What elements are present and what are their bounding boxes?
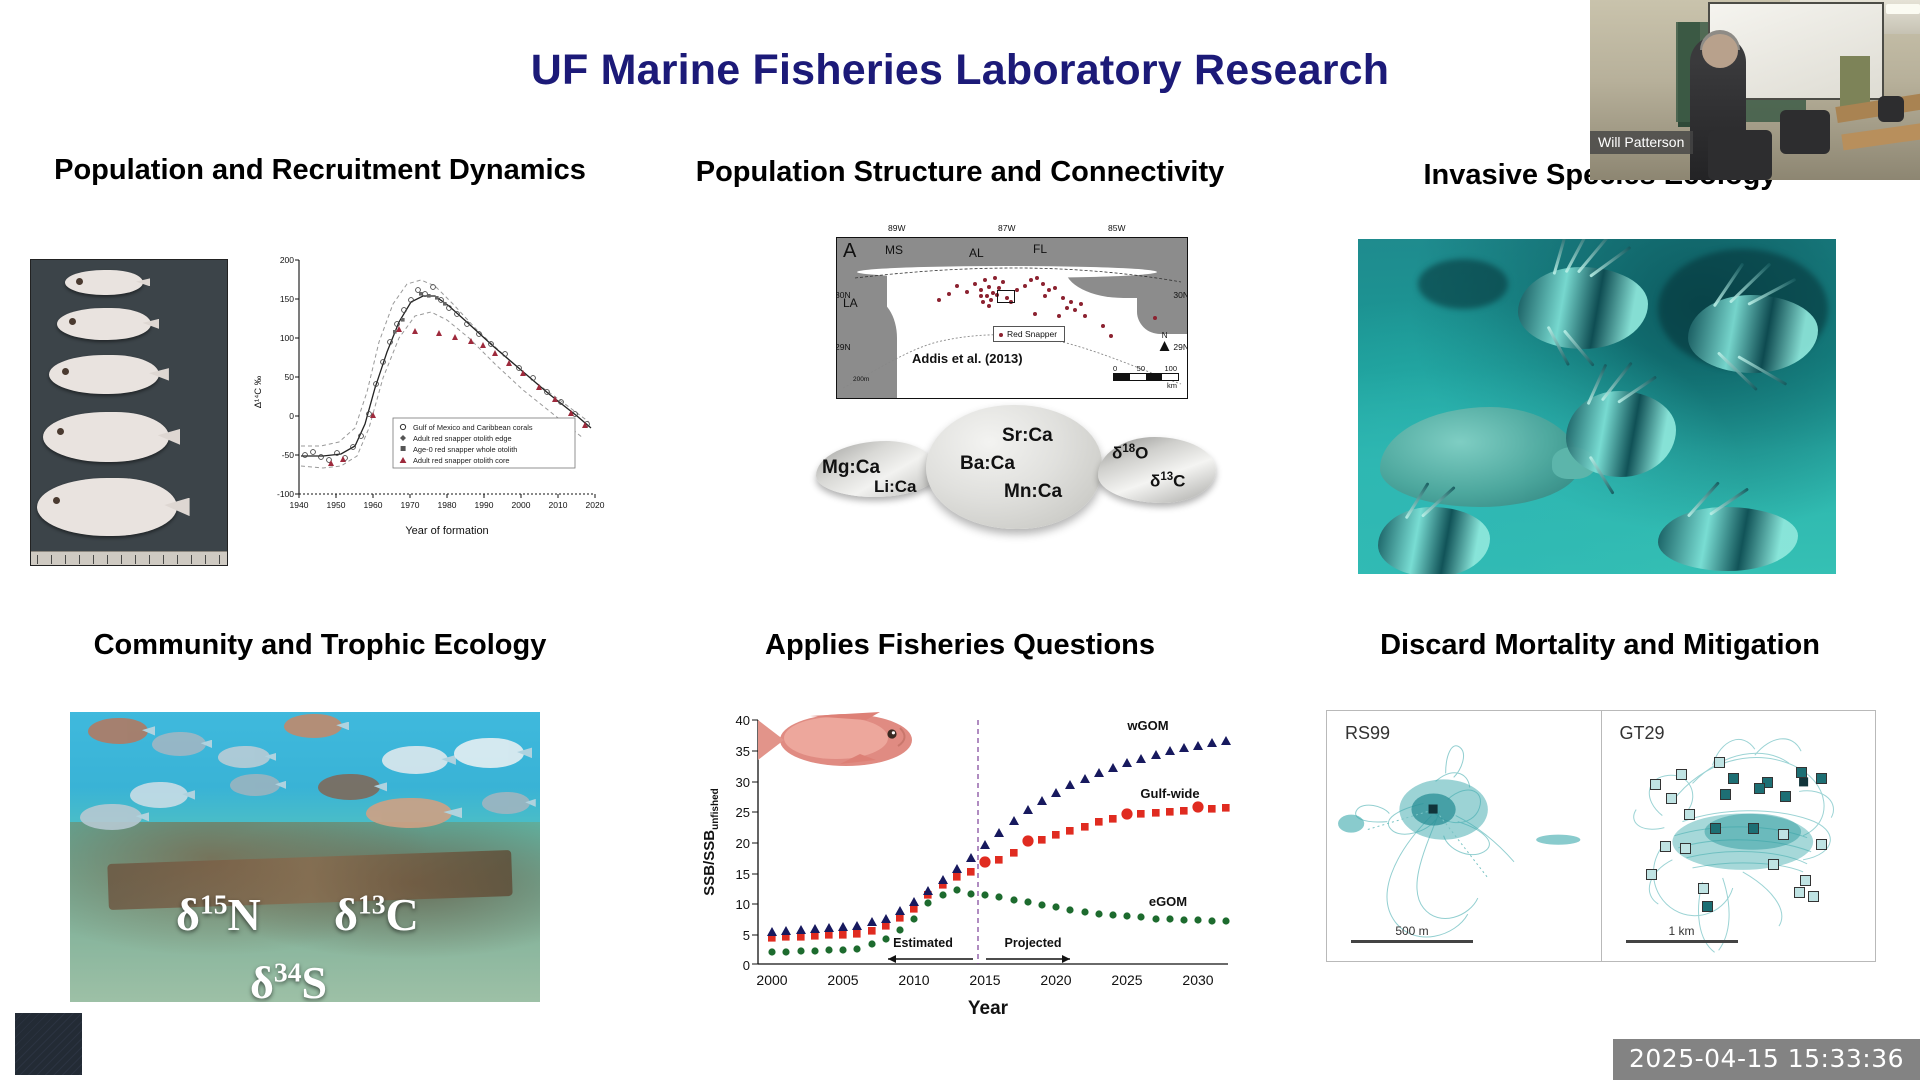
lionfish: [1518, 267, 1648, 349]
radiocarbon-y-axis-label: Δ¹⁴C ‰: [253, 375, 264, 408]
svg-text:5: 5: [743, 928, 750, 943]
svg-text:35: 35: [736, 744, 750, 759]
svg-text:0: 0: [289, 411, 294, 421]
svg-text:25: 25: [736, 805, 750, 820]
isotope-label-n15: δ15N: [176, 888, 261, 941]
map-scale-bar: 0 50 100 km: [1113, 364, 1179, 390]
red-snapper-illustration: [758, 712, 912, 766]
map-state-fl: FL: [1033, 242, 1047, 256]
svg-text:10: 10: [736, 897, 750, 912]
otolith-label-mgca: Mg:Ca: [822, 457, 880, 479]
map-state-al: AL: [969, 246, 984, 260]
lionfish: [1566, 391, 1676, 477]
svg-text:2020: 2020: [586, 500, 605, 510]
telemetry-scale-rs99: 500 m: [1351, 924, 1473, 943]
svg-text:-50: -50: [282, 450, 295, 460]
map-legend: Red Snapper: [993, 326, 1065, 342]
corner-placeholder-block: [15, 1013, 82, 1075]
svg-text:15: 15: [736, 867, 750, 882]
svg-text:-100: -100: [277, 489, 294, 499]
lionfish: [1378, 507, 1490, 574]
lionfish: [1688, 295, 1818, 373]
rs99-tracks: [1327, 711, 1600, 960]
otolith-label-lica: Li:Ca: [874, 477, 917, 497]
acoustic-telemetry-figure: RS99: [1326, 710, 1876, 962]
sea-turtle: [1380, 407, 1580, 507]
svg-text:1990: 1990: [475, 500, 494, 510]
svg-text:2000: 2000: [512, 500, 531, 510]
svg-text:2015: 2015: [969, 972, 1000, 988]
chart-ssb-projection: 40 35 30 25 20 15 10 5 0 2000 2005 2010 …: [688, 702, 1248, 1022]
telemetry-scale-gt29: 1 km: [1626, 924, 1738, 943]
panel-population-recruitment: Population and Recruitment Dynamics: [0, 155, 640, 587]
svg-text:30: 30: [736, 775, 750, 790]
otolith-label-d13c: δ13C: [1150, 471, 1185, 492]
red-snapper-size-series-photo: [30, 259, 228, 566]
legend-label-otolith-edge: Adult red snapper otolith edge: [413, 434, 512, 443]
legend-label-otolith-core: Adult red snapper otolith core: [413, 456, 510, 465]
svg-text:1960: 1960: [364, 500, 383, 510]
recording-timestamp: 2025-04-15 15:33:36: [1613, 1039, 1920, 1080]
map-legend-label: Red Snapper: [1007, 329, 1057, 339]
gulf-of-mexico-sample-map: A MS AL FL LA 200m: [836, 237, 1188, 399]
gt29-tracks: [1602, 711, 1875, 960]
reef-assemblage-video-still: δ15N δ13C δ34S: [70, 712, 540, 1002]
otolith-label-mnca: Mn:Ca: [1004, 481, 1062, 503]
svg-text:2010: 2010: [898, 972, 929, 988]
svg-text:1940: 1940: [290, 500, 309, 510]
map-longitude-axis: 89W 87W 85W: [836, 223, 1186, 237]
map-north-arrow: N▲: [1156, 331, 1173, 352]
isotope-label-c13: δ13C: [334, 888, 419, 941]
telemetry-panel-rs99: RS99: [1327, 711, 1601, 961]
otolith-chemistry-diagram: Mg:Ca Li:Ca Sr:Ca Ba:Ca Mn:Ca δ18O δ13C: [816, 401, 1216, 531]
panel-population-structure: Population Structure and Connectivity: [640, 157, 1280, 589]
series-label-gulf-wide: Gulf-wide: [1140, 786, 1199, 801]
annotation-projected: Projected: [1005, 936, 1062, 950]
svg-text:1950: 1950: [327, 500, 346, 510]
svg-text:0: 0: [743, 958, 750, 973]
svg-text:50: 50: [285, 372, 295, 382]
panel-applied-fisheries: Applies Fisheries Questions 40 35 30 25 …: [640, 630, 1280, 1032]
lionfish-video-still: [1358, 239, 1836, 574]
panel-title-applied-fisheries: Applies Fisheries Questions: [640, 630, 1280, 662]
legend-label-corals: Gulf of Mexico and Caribbean corals: [413, 423, 533, 432]
otolith-label-srca: Sr:Ca: [1002, 425, 1053, 447]
panel-invasive-species: Invasive Species Ecology: [1280, 160, 1920, 592]
svg-text:1980: 1980: [438, 500, 457, 510]
lionfish: [1658, 507, 1798, 571]
legend-label-age0-otolith: Age-0 red snapper whole otolith: [413, 445, 517, 454]
svg-text:150: 150: [280, 294, 294, 304]
presentation-slide: UF Marine Fisheries Laboratory Research …: [0, 0, 1920, 1080]
radiocarbon-chart-legend: Gulf of Mexico and Caribbean corals Adul…: [393, 418, 575, 468]
series-gulf-wide: [768, 801, 1230, 941]
svg-text:40: 40: [736, 713, 750, 728]
isotope-label-s34: δ34S: [250, 956, 327, 1002]
panel-title-discard-mortality: Discard Mortality and Mitigation: [1280, 630, 1920, 662]
panel-title-population-structure: Population Structure and Connectivity: [640, 157, 1280, 189]
telemetry-panel-gt29: GT29: [1601, 711, 1876, 961]
ruler-scale: [31, 551, 227, 565]
ssb-y-axis-sub: unfished: [710, 788, 721, 830]
panel-discard-mortality: Discard Mortality and Mitigation RS99: [1280, 630, 1920, 992]
map-citation: Addis et al. (2013): [912, 351, 1023, 366]
speaker-video-overlay[interactable]: Will Patterson: [1590, 0, 1920, 180]
speaker-name-label: Will Patterson: [1590, 131, 1693, 154]
map-depth-contour: 200m: [853, 376, 869, 383]
annotation-estimated: Estimated: [893, 936, 953, 950]
panel-title-community-trophic: Community and Trophic Ecology: [0, 630, 640, 662]
map-panel-letter: A: [843, 240, 856, 263]
svg-text:2030: 2030: [1182, 972, 1213, 988]
map-state-ms: MS: [885, 243, 903, 257]
svg-text:20: 20: [736, 836, 750, 851]
series-label-wgom: wGOM: [1126, 718, 1168, 733]
svg-text:SSB/SSBunfished: SSB/SSBunfished: [701, 788, 721, 896]
svg-text:2020: 2020: [1040, 972, 1071, 988]
radiocarbon-x-axis-label: Year of formation: [405, 525, 488, 537]
chart-bomb-radiocarbon: 200 150 100 50 0 -50 -100 1940 1950 1960…: [243, 242, 611, 572]
series-label-egom: eGOM: [1149, 894, 1187, 909]
otolith-label-d18o: δ18O: [1112, 443, 1148, 464]
svg-text:100: 100: [280, 333, 294, 343]
panel-community-trophic: Community and Trophic Ecology δ15N δ: [0, 630, 640, 1032]
svg-text:2010: 2010: [549, 500, 568, 510]
svg-text:200: 200: [280, 255, 294, 265]
svg-text:1970: 1970: [401, 500, 420, 510]
svg-text:2005: 2005: [827, 972, 858, 988]
panel-title-population-recruitment: Population and Recruitment Dynamics: [0, 155, 640, 187]
svg-text:2000: 2000: [756, 972, 787, 988]
ssb-x-axis-label: Year: [968, 998, 1009, 1019]
svg-text:2025: 2025: [1111, 972, 1142, 988]
ssb-y-axis-label: SSB/SSB: [701, 830, 718, 896]
otolith-label-baca: Ba:Ca: [960, 453, 1015, 475]
